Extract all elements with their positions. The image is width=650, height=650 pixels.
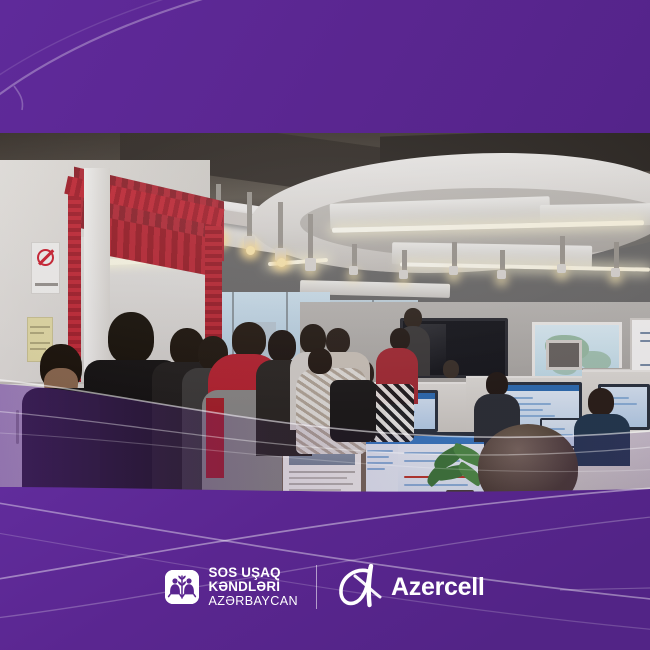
sos-wordmark-line1: SOS UŞAQ (208, 566, 298, 580)
swoosh-arc-top-left (0, 0, 650, 133)
sos-childrens-villages-icon (165, 570, 199, 604)
azercell-alpha-swoosh-icon (335, 564, 389, 610)
pendant-light (449, 266, 458, 275)
sos-wordmark: SOS UŞAQ KƏNDLƏRİ AZƏRBAYCAN (208, 566, 298, 608)
pendant-rod (308, 214, 313, 260)
azercell-logo[interactable]: Azercell (335, 564, 485, 610)
no-smoking-sign (31, 242, 60, 294)
visitor-head (108, 312, 154, 364)
visitor-head (268, 330, 296, 362)
pendant-light (349, 266, 358, 275)
pendant-rod (614, 242, 619, 270)
visitor-head (232, 322, 266, 358)
top-purple-band (0, 0, 650, 133)
pendant-light (557, 264, 566, 273)
pendant-bulb (277, 258, 286, 267)
visitor-jacket-red-panel (206, 398, 224, 478)
sos-wordmark-line3: AZƏRBAYCAN (208, 595, 298, 608)
logo-divider (316, 565, 317, 609)
pendant-rod (402, 250, 407, 272)
azercell-wordmark: Azercell (391, 573, 485, 602)
pendant-light (497, 270, 506, 279)
cabinet-handle (16, 410, 19, 444)
person-head (443, 360, 459, 378)
pendant-rod (560, 236, 565, 266)
pendant-rod (352, 244, 357, 268)
person-head (390, 328, 410, 350)
pendant-rod (500, 250, 505, 272)
pendant-rod (247, 192, 252, 238)
office-chair (330, 380, 376, 442)
sos-childrens-villages-logo[interactable]: SOS UŞAQ KƏNDLƏRİ AZƏRBAYCAN (165, 566, 298, 608)
sos-wordmark-line2: KƏNDLƏRİ (208, 580, 298, 594)
person-head (588, 388, 614, 416)
person-head (486, 372, 508, 396)
office-tour-photograph (0, 132, 650, 504)
person-head (308, 348, 332, 374)
pendant-bulb (246, 246, 255, 255)
visitor-head (326, 328, 350, 354)
pendant-light (399, 270, 408, 279)
poster-canvas: SOS UŞAQ KƏNDLƏRİ AZƏRBAYCAN Azercell (0, 0, 650, 650)
framed-photo-wall (546, 340, 582, 370)
person-head (404, 308, 422, 328)
pendant-light (611, 268, 620, 277)
co-branding-logo-lockup: SOS UŞAQ KƏNDLƏRİ AZƏRBAYCAN Azercell (0, 556, 650, 618)
pendant-light (305, 258, 316, 271)
person-body (574, 414, 630, 466)
pendant-rod (452, 242, 457, 268)
pendant-rod (278, 202, 283, 250)
